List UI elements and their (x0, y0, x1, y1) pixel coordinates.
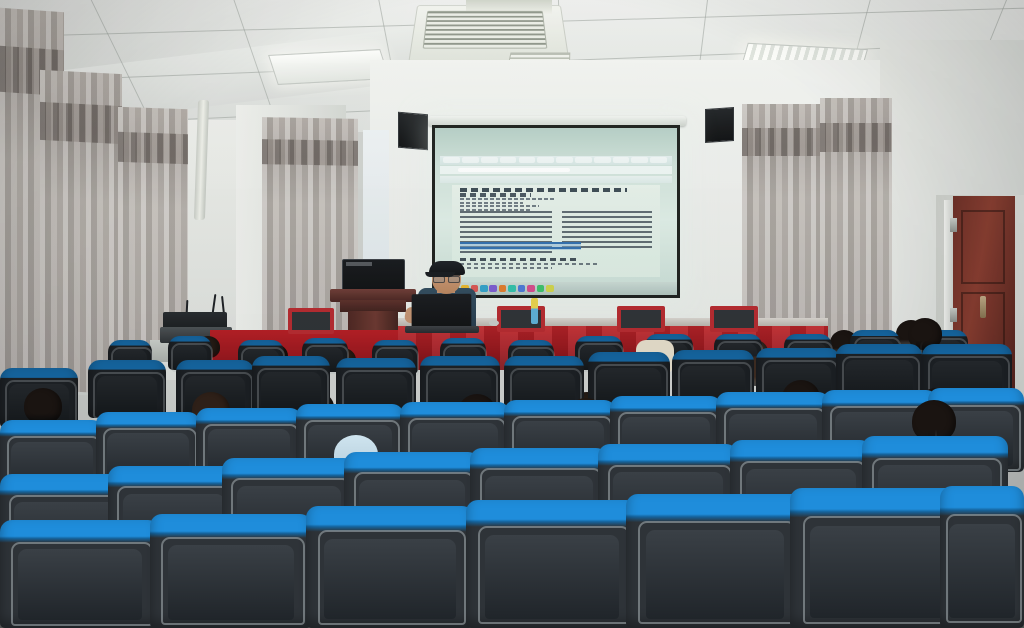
taskbar-icon[interactable] (537, 285, 545, 292)
document-affiliation-line (460, 198, 556, 200)
document-affiliation-line (460, 205, 539, 207)
curtain-band (742, 128, 828, 156)
curtain-band (262, 139, 358, 166)
presenter-cap-brim (425, 272, 456, 277)
document-highlighted-text (460, 242, 581, 250)
projection-screen (432, 125, 680, 298)
curtain-band (820, 123, 892, 153)
browser-tab[interactable] (613, 157, 630, 163)
presenter-laptop (412, 294, 472, 329)
document-english-authors (460, 263, 597, 265)
auditorium-chair[interactable] (88, 360, 166, 418)
browser-tab[interactable] (481, 157, 498, 163)
front-row-chair (617, 306, 665, 332)
lectern-monitor-glint (346, 262, 372, 266)
curtain-band (40, 102, 122, 145)
taskbar-icon[interactable] (508, 285, 516, 292)
chair-pad (646, 530, 785, 618)
taskbar-icon[interactable] (499, 285, 507, 292)
door-panel-upper (961, 210, 1005, 284)
wall-speaker-right (705, 107, 734, 143)
presenter-laptop-base (405, 326, 479, 333)
auditorium-chair[interactable] (306, 506, 474, 628)
browser-tab[interactable] (500, 157, 517, 163)
document-author-line (460, 193, 531, 196)
browser-tab[interactable] (594, 157, 611, 163)
chair-pad (18, 549, 143, 620)
url-input[interactable] (458, 168, 570, 173)
browser-tab[interactable] (443, 157, 460, 163)
browser-tab[interactable] (462, 157, 479, 163)
browser-tab[interactable] (556, 157, 573, 163)
taskbar-icon[interactable] (489, 285, 497, 292)
auditorium-chair[interactable] (150, 514, 312, 628)
door-handle-icon[interactable] (980, 296, 986, 318)
chair-pad (168, 545, 294, 620)
door-hinge-upper (950, 218, 957, 232)
browser-tab[interactable] (537, 157, 554, 163)
curtain-band (118, 132, 188, 164)
air-conditioner-grille-icon (423, 11, 548, 49)
document-affiliation-line (460, 202, 522, 204)
wall-speaker-left (398, 112, 428, 151)
document-toolbar[interactable] (440, 176, 672, 184)
browser-tab-bar[interactable] (440, 156, 672, 164)
projection-screen-surface (435, 128, 677, 295)
curtain-panel (820, 98, 892, 344)
auditorium-chair[interactable] (0, 520, 160, 628)
browser-tab[interactable] (575, 157, 592, 163)
document-english-title (460, 258, 577, 261)
chair-pad (949, 524, 1015, 618)
chair-pad (97, 376, 158, 414)
taskbar-icon[interactable] (480, 285, 488, 292)
door-hinge-lower (950, 308, 957, 322)
auditorium-chair[interactable] (940, 486, 1024, 628)
document-english-authors (460, 267, 552, 269)
taskbar-icon[interactable] (527, 285, 535, 292)
lecture-hall-photo (0, 0, 1024, 628)
water-bottle (531, 298, 538, 324)
chair-pad (324, 539, 455, 620)
browser-url-bar[interactable] (440, 166, 672, 174)
taskbar-icon[interactable] (518, 285, 526, 292)
front-row-chair (288, 308, 334, 334)
document-title-line (460, 188, 626, 192)
front-row-chair (710, 306, 758, 332)
browser-tab[interactable] (519, 157, 536, 163)
taskbar-icon[interactable] (546, 285, 554, 292)
chair-pad (485, 535, 619, 619)
browser-tab[interactable] (650, 157, 667, 163)
chair-pad (810, 526, 954, 618)
browser-tab[interactable] (631, 157, 648, 163)
auditorium-chair[interactable] (626, 494, 804, 628)
curtain-panel (742, 104, 828, 340)
attendee-head (24, 388, 62, 424)
computer-mouse (489, 320, 499, 326)
auditorium-chair[interactable] (466, 500, 638, 628)
projected-document (452, 185, 660, 277)
